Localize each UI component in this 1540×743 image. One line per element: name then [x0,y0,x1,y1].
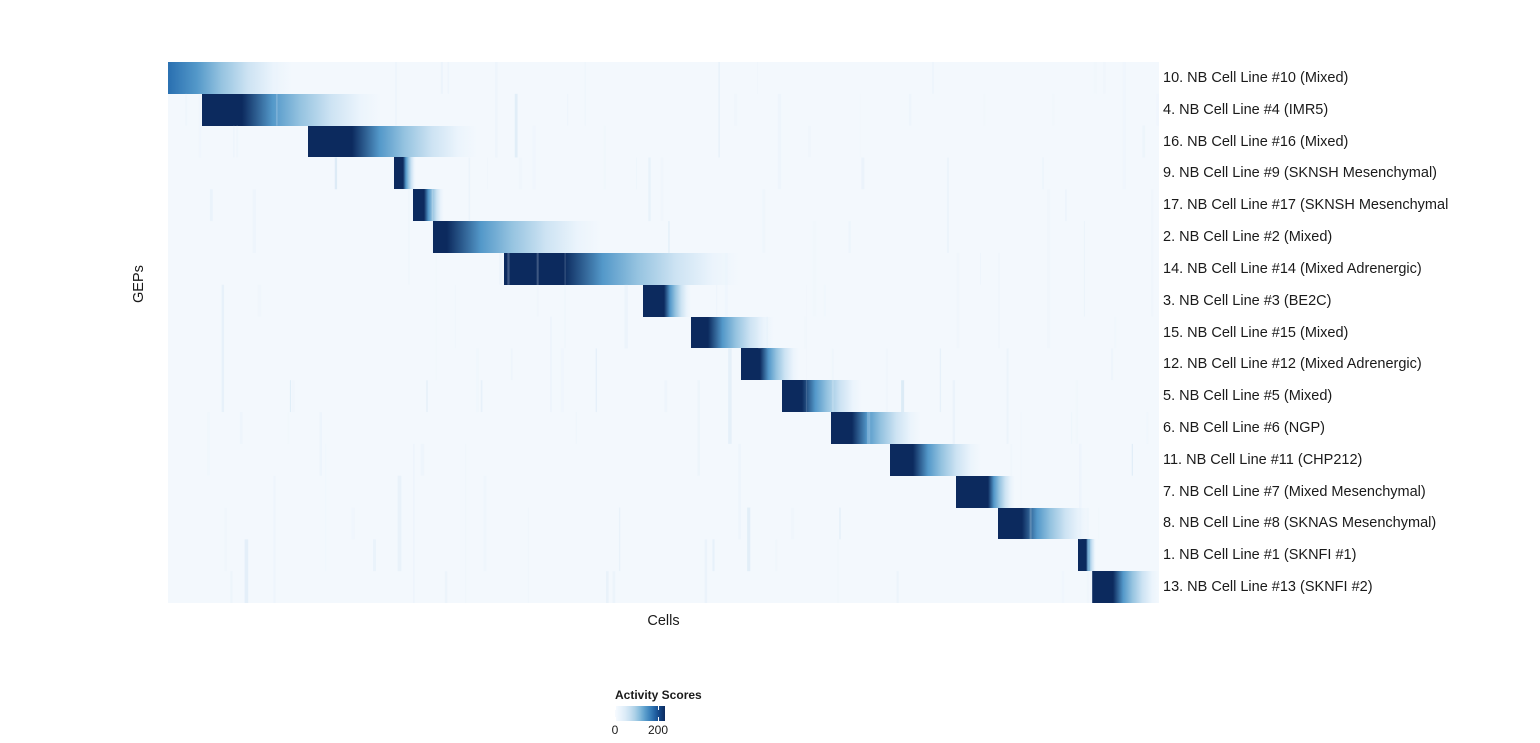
y-axis-label: GEPs [131,265,147,303]
heatmap-block-core [433,221,448,253]
heatmap-block-fade [403,157,416,189]
heatmap-block-fade [708,317,774,349]
heatmap-block-fade [352,126,477,158]
row-label: 2. NB Cell Line #2 (Mixed) [1163,230,1332,245]
heatmap-row [168,221,1159,253]
heatmap-block-fade [1113,571,1159,603]
heatmap-block-core [308,126,353,158]
colorbar-tick-mark [658,706,659,710]
heatmap-row [168,539,1159,571]
heatmap-row [168,189,1159,221]
heatmap-block-fade [664,285,691,317]
heatmap-row [168,444,1159,476]
heatmap-row [168,94,1159,126]
row-label: 1. NB Cell Line #1 (SKNFI #1) [1163,548,1356,563]
heatmap-block-fade [1022,508,1089,540]
heatmap-block-core [782,380,802,412]
heatmap-row [168,508,1159,540]
heatmap-block-core [202,94,243,126]
heatmap-row [168,157,1159,189]
colorbar-tick-mark [658,717,659,721]
heatmap-block-core [998,508,1022,540]
row-label: 11. NB Cell Line #11 (CHP212) [1163,453,1362,468]
x-axis-label: Cells [168,613,1159,629]
heatmap-row-background [168,571,1159,603]
heatmap-block-fade [988,476,1016,508]
colorbar-tick-mark [615,717,616,721]
heatmap-block-core [1092,571,1114,603]
heatmap-block-fade [913,444,980,476]
colorbar-title: Activity Scores [615,688,702,702]
heatmap-row [168,380,1159,412]
heatmap-block-fade [852,412,921,444]
heatmap-block-core [1078,539,1086,571]
heatmap-row-background [168,221,1159,253]
heatmap-row-background [168,317,1159,349]
heatmap-row-background [168,157,1159,189]
row-label: 8. NB Cell Line #8 (SKNAS Mesenchymal) [1163,516,1436,531]
heatmap-block-fade [170,62,292,94]
heatmap-block-core [956,476,988,508]
heatmap-block-fade [1086,539,1096,571]
row-label: 9. NB Cell Line #9 (SKNSH Mesenchymal) [1163,166,1437,181]
row-label: 17. NB Cell Line #17 (SKNSH Mesenchymal [1163,198,1448,213]
heatmap-block-core [691,317,708,349]
heatmap-row [168,317,1159,349]
row-label: 14. NB Cell Line #14 (Mixed Adrenergic) [1163,262,1422,277]
heatmap-block-fade [447,221,601,253]
heatmap-plot-area [168,62,1159,603]
heatmap-block-core [741,348,760,380]
heatmap-row [168,285,1159,317]
heatmap-block-core [831,412,852,444]
colorbar-tick-label: 0 [612,723,619,737]
heatmap-block-core [413,189,424,221]
heatmap-block-fade [424,189,445,221]
colorbar-tick-mark [615,706,616,710]
colorbar-bar-wrap: 0200 [615,706,665,721]
heatmap-row [168,62,1159,94]
row-label: 10. NB Cell Line #10 (Mixed) [1163,71,1348,86]
heatmap-row [168,412,1159,444]
row-label: 12. NB Cell Line #12 (Mixed Adrenergic) [1163,357,1422,372]
heatmap-row-background [168,444,1159,476]
heatmap-row [168,476,1159,508]
heatmap-row-background [168,380,1159,412]
row-label: 3. NB Cell Line #3 (BE2C) [1163,294,1331,309]
row-label: 5. NB Cell Line #5 (Mixed) [1163,389,1332,404]
row-label: 13. NB Cell Line #13 (SKNFI #2) [1163,580,1373,595]
heatmap-block-core [643,285,665,317]
row-label: 16. NB Cell Line #16 (Mixed) [1163,135,1348,150]
heatmap-block-fade [242,94,381,126]
heatmap-block-fade [760,348,800,380]
heatmap-block-fade [564,253,738,285]
heatmap-block-core [504,253,564,285]
heatmap-row-background [168,62,1159,94]
heatmap-row [168,348,1159,380]
heatmap-row [168,571,1159,603]
row-label: 7. NB Cell Line #7 (Mixed Mesenchymal) [1163,485,1426,500]
heatmap-figure: 10. NB Cell Line #10 (Mixed)4. NB Cell L… [0,0,1540,743]
heatmap-row [168,253,1159,285]
colorbar-legend: Activity Scores 0200 [615,688,702,721]
heatmap-row-background [168,539,1159,571]
row-label: 15. NB Cell Line #15 (Mixed) [1163,326,1348,341]
heatmap-row [168,126,1159,158]
heatmap-block-fade [802,380,861,412]
row-label: 4. NB Cell Line #4 (IMR5) [1163,103,1328,118]
heatmap-row-background [168,348,1159,380]
heatmap-row-background [168,412,1159,444]
heatmap-row-background [168,189,1159,221]
heatmap-block-core [890,444,913,476]
row-label: 6. NB Cell Line #6 (NGP) [1163,421,1325,436]
colorbar-tick-label: 200 [648,723,668,737]
heatmap-block-core [394,157,403,189]
